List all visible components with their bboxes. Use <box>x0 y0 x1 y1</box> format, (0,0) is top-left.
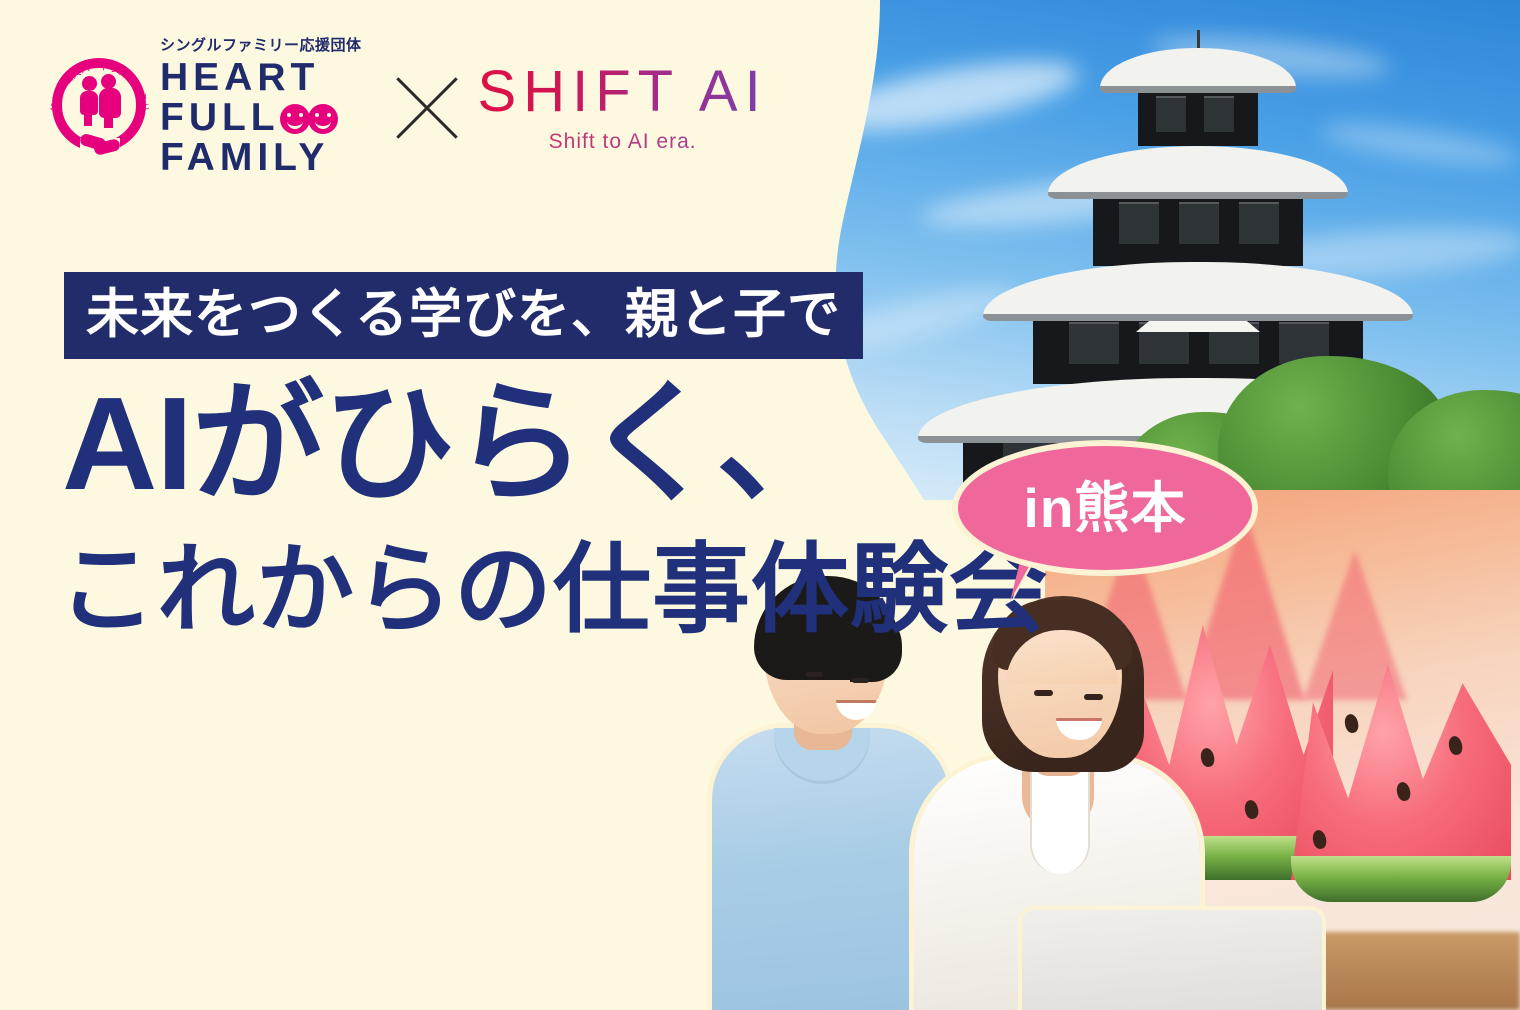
smiley-mouth <box>287 118 303 129</box>
woman-blouse-placket <box>1030 766 1090 874</box>
castle-window <box>1179 202 1219 244</box>
smiley-pair-icon <box>280 104 342 134</box>
main-title-line-1: AIがひらく、 <box>62 378 847 510</box>
castle-eave <box>983 262 1413 321</box>
laptop-icon <box>1022 910 1322 1010</box>
castle-keep <box>918 30 1478 500</box>
kumamoto-castle-photo <box>800 0 1520 500</box>
woman-eye <box>1034 690 1053 696</box>
promo-banner: 一般社団法人ハートフルファミリー シングルファミリー応援団体 HEART FUL… <box>0 0 1520 1010</box>
castle-eave <box>1100 48 1296 93</box>
castle-window <box>1239 202 1279 244</box>
shift-ai-logo: SHIFT AI Shift to AI era. <box>478 63 768 152</box>
castle-window <box>1069 322 1119 364</box>
castle-eave <box>1048 146 1348 199</box>
location-speech-bubble: in熊本 <box>952 440 1258 576</box>
castle-window <box>1119 202 1159 244</box>
heartfull-family-emblem-icon: 一般社団法人ハートフルファミリー <box>46 50 154 166</box>
smiley-icon <box>280 104 310 134</box>
speech-bubble-body: in熊本 <box>952 440 1258 576</box>
headline-ribbon-text: 未来をつくる学びを、親と子で <box>86 288 841 341</box>
svg-text:一般社団法人ハートフルファミリー: 一般社団法人ハートフルファミリー <box>46 50 150 112</box>
heartfull-line-2: FULL <box>160 96 280 139</box>
woman-eye <box>1084 694 1103 700</box>
heartfull-family-wordmark: シングルファミリー応援団体 HEART FULL FAMILY <box>160 38 362 177</box>
heartfull-line-1: HEART <box>160 58 362 98</box>
watermelon-seed <box>1343 713 1360 734</box>
heartfull-line-3: FAMILY <box>160 138 362 178</box>
watermelon-rind <box>1291 856 1511 902</box>
headline-ribbon: 未来をつくる学びを、親と子で <box>64 272 863 359</box>
emblem-arc-caption: 一般社団法人ハートフルファミリー <box>46 50 154 166</box>
shift-ai-wordmark: SHIFT AI <box>478 63 768 121</box>
heartfull-tagline: シングルファミリー応援団体 <box>160 38 362 53</box>
boy-eye <box>806 672 823 677</box>
emblem-arc-caption-text: 一般社団法人ハートフルファミリー <box>46 50 150 112</box>
castle-window <box>1156 96 1186 132</box>
smiley-icon <box>308 104 338 134</box>
boy-eye <box>852 678 869 683</box>
cross-separator-icon <box>392 73 462 143</box>
castle-window <box>1204 96 1234 132</box>
main-title-line-2: これからの仕事体験会 <box>58 540 1048 638</box>
heartfull-line-2-row: FULL <box>160 98 362 138</box>
shift-ai-tagline: Shift to AI era. <box>478 131 768 152</box>
speech-bubble-text: in熊本 <box>1024 481 1187 536</box>
smiley-mouth <box>315 118 331 129</box>
logo-row: 一般社団法人ハートフルファミリー シングルファミリー応援団体 HEART FUL… <box>46 38 768 177</box>
